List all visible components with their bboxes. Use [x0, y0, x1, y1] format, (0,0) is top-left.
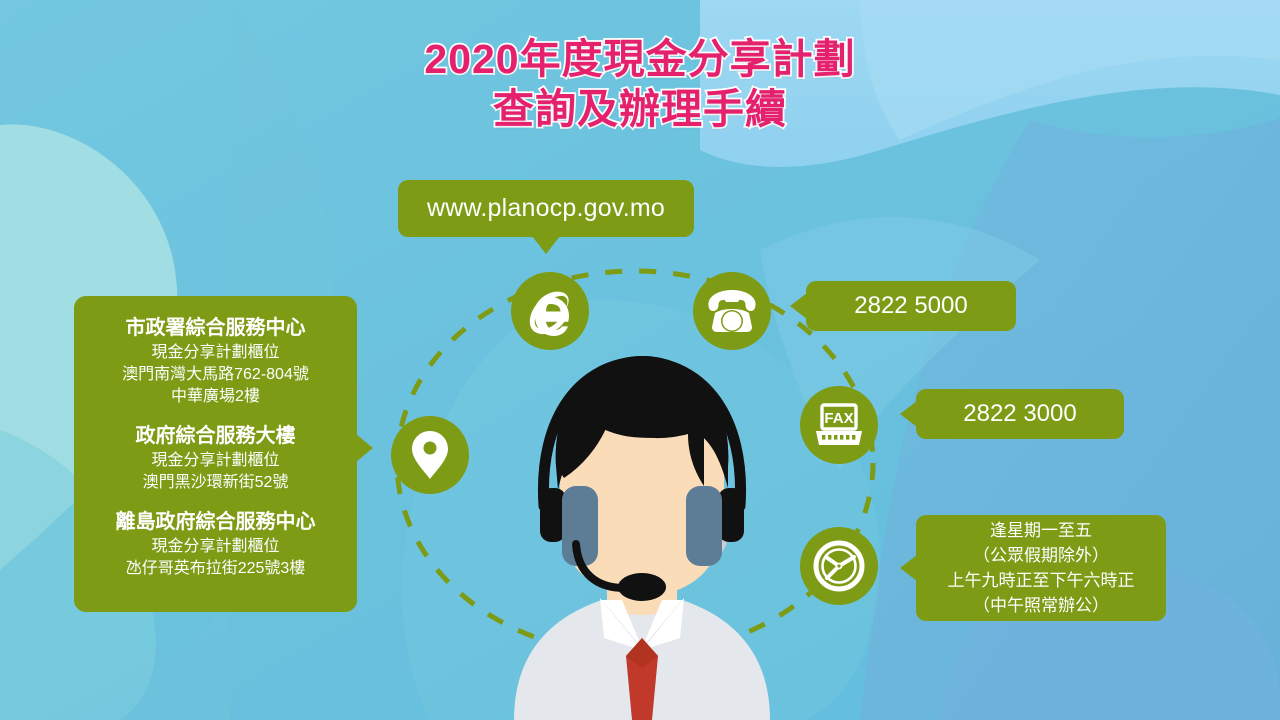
website-url-callout[interactable]: www.planocp.gov.mo: [398, 180, 694, 237]
callout-tail: [900, 555, 917, 581]
office-hours-line: （公眾假期除外）: [973, 543, 1109, 568]
location-address-line: 澳門南灣大馬路762-804號: [122, 364, 309, 386]
location-counter: 現金分享計劃櫃位: [136, 450, 296, 472]
location-counter: 現金分享計劃櫃位: [122, 342, 309, 364]
fax-number-text: 2822 3000: [963, 400, 1076, 428]
service-locations-callout[interactable]: 市政署綜合服務中心 現金分享計劃櫃位 澳門南灣大馬路762-804號 中華廣場2…: [74, 296, 357, 612]
callout-tail: [532, 236, 560, 254]
clock-glyph: [813, 540, 865, 592]
location-counter: 現金分享計劃櫃位: [116, 536, 316, 558]
infographic-canvas: 2020年度現金分享計劃 查詢及辦理手續: [0, 0, 1280, 720]
internet-explorer-glyph: [522, 283, 578, 339]
location-item: 離島政府綜合服務中心 現金分享計劃櫃位 氹仔哥英布拉街225號3樓: [116, 508, 316, 580]
telephone-number-text: 2822 5000: [854, 292, 967, 320]
office-hours-line: （中午照常辦公）: [973, 593, 1109, 618]
location-address-line: 氹仔哥英布拉街225號3樓: [116, 558, 316, 580]
clock-icon[interactable]: [800, 527, 878, 605]
telephone-icon[interactable]: [693, 272, 771, 350]
callout-tail: [900, 401, 917, 427]
fax-number-callout[interactable]: 2822 3000: [916, 389, 1124, 439]
location-item: 市政署綜合服務中心 現金分享計劃櫃位 澳門南灣大馬路762-804號 中華廣場2…: [122, 314, 309, 408]
location-name: 市政署綜合服務中心: [122, 314, 309, 342]
fax-glyph: FAX: [812, 402, 866, 448]
website-url-text: www.planocp.gov.mo: [427, 194, 665, 223]
map-pin-glyph: [410, 429, 450, 481]
fax-icon[interactable]: FAX: [800, 386, 878, 464]
telephone-number-callout[interactable]: 2822 5000: [806, 281, 1016, 331]
location-address-line: 中華廣場2樓: [122, 386, 309, 408]
location-name: 離島政府綜合服務中心: [116, 508, 316, 536]
callout-tail: [790, 293, 807, 319]
office-hours-line: 上午九時正至下午六時正: [948, 568, 1135, 593]
call-center-agent-illustration: [452, 338, 832, 720]
map-pin-icon[interactable]: [391, 416, 469, 494]
location-name: 政府綜合服務大樓: [136, 422, 296, 450]
office-hours-line: 逢星期一至五: [990, 518, 1092, 543]
fax-label: FAX: [824, 410, 853, 427]
telephone-glyph: [706, 287, 758, 335]
office-hours-callout[interactable]: 逢星期一至五 （公眾假期除外） 上午九時正至下午六時正 （中午照常辦公）: [916, 515, 1166, 621]
callout-tail: [356, 434, 373, 462]
location-address-line: 澳門黑沙環新街52號: [136, 472, 296, 494]
location-item: 政府綜合服務大樓 現金分享計劃櫃位 澳門黑沙環新街52號: [136, 422, 296, 494]
internet-explorer-icon[interactable]: [511, 272, 589, 350]
